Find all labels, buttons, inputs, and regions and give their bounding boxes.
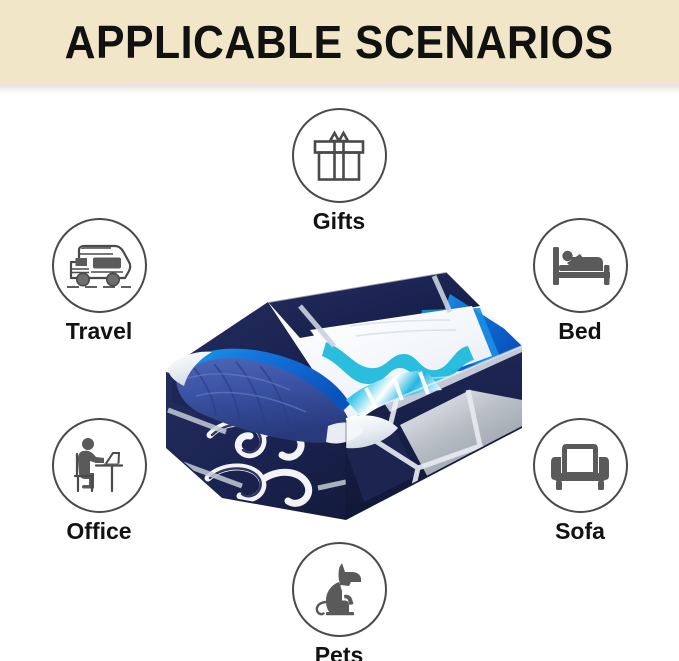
applicable-scenarios-infographic: APPLICABLE SCENARIOS xyxy=(0,0,679,661)
scenario-item-gifts: Gifts xyxy=(279,108,399,234)
page-title: APPLICABLE SCENARIOS xyxy=(65,19,614,65)
scenario-label-bed: Bed xyxy=(520,319,640,344)
scenario-label-office: Office xyxy=(39,519,159,544)
scenario-item-office: Office xyxy=(39,418,159,544)
sitting-dog-icon xyxy=(308,561,370,619)
gift-icon xyxy=(308,127,370,185)
scenario-circle-pets xyxy=(292,542,387,637)
scenario-circle-gifts xyxy=(292,108,387,203)
armchair-icon xyxy=(550,440,610,492)
scenario-item-pets: Pets xyxy=(279,542,399,661)
product-image-folded-blanket xyxy=(150,250,530,535)
scenario-item-travel: Travel xyxy=(39,218,159,344)
scenario-circle-bed xyxy=(533,218,628,313)
scenario-label-travel: Travel xyxy=(39,319,159,344)
scenario-label-pets: Pets xyxy=(279,643,399,661)
banner-shadow xyxy=(0,84,679,94)
rv-camper-icon xyxy=(63,238,135,294)
scenario-label-sofa: Sofa xyxy=(520,519,640,544)
scenario-circle-office xyxy=(52,418,147,513)
scenario-label-gifts: Gifts xyxy=(279,209,399,234)
scenario-item-sofa: Sofa xyxy=(520,418,640,544)
person-at-desk-icon xyxy=(66,435,132,497)
scenario-circle-travel xyxy=(52,218,147,313)
header-banner: APPLICABLE SCENARIOS xyxy=(0,0,679,84)
bed-person-icon xyxy=(547,241,613,291)
scenario-item-bed: Bed xyxy=(520,218,640,344)
scenario-circle-sofa xyxy=(533,418,628,513)
